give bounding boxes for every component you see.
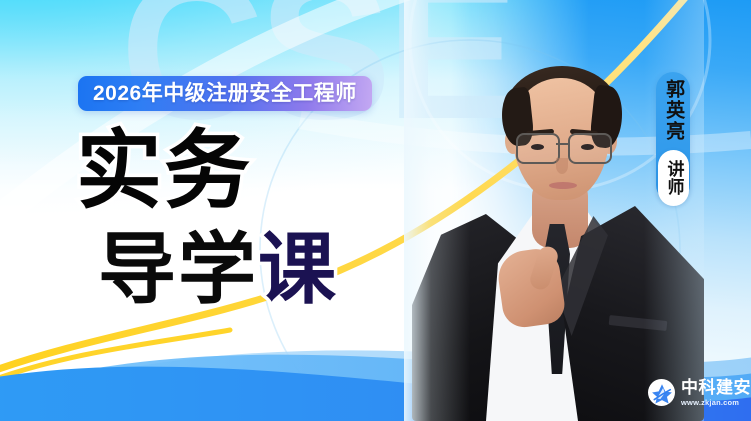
star-arrow-logo-icon (648, 379, 675, 406)
brand-logo-text: 中科建安 www.zkjan.com (681, 379, 751, 407)
exam-badge: 2026年中级注册安全工程师 (78, 76, 372, 111)
lens-right (568, 133, 612, 164)
eyeglasses-icon (516, 133, 608, 161)
brand-url: www.zkjan.com (681, 399, 751, 407)
mouth (549, 182, 577, 189)
brand-name: 中科建安 (681, 379, 751, 396)
instructor-role-label: 讲师 (664, 160, 682, 196)
exam-badge-label: 2026年中级注册安全工程师 (93, 83, 357, 104)
lens-left (516, 133, 560, 164)
instructor-name-label: 郭英亮 (663, 79, 683, 142)
course-poster: CSE (0, 0, 751, 421)
page-title: 实务 导学课 (76, 128, 338, 308)
instructor-photo (404, 0, 704, 421)
instructor-role-badge: 讲师 (658, 150, 689, 206)
brand-logo[interactable]: 中科建安 www.zkjan.com (648, 379, 751, 407)
nose (556, 158, 568, 174)
title-line-2-black: 导学 (98, 225, 258, 313)
title-line-2: 导学课 (98, 230, 338, 308)
glasses-bridge (556, 143, 568, 145)
title-line-2-navy: 课 (258, 225, 338, 313)
title-line-1: 实务 (76, 128, 338, 214)
